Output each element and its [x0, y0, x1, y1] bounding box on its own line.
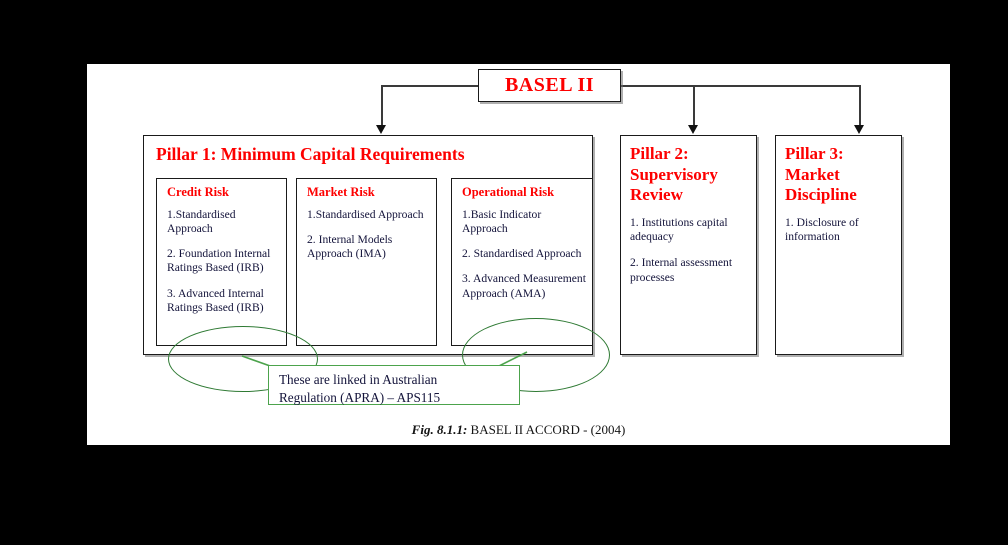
connector-right-horizontal [621, 85, 860, 87]
list-item: 3. Advanced Measurement Approach (AMA) [462, 272, 586, 300]
credit-risk-items: 1.Standardised Approach 2. Foundation In… [157, 200, 286, 315]
figure-caption: Fig. 8.1.1: BASEL II ACCORD - (2004) [87, 422, 950, 438]
caption-figure-number: Fig. 8.1.1: [412, 422, 468, 437]
credit-risk-title: Credit Risk [157, 179, 286, 200]
pillar-3-items: 1. Disclosure of information [776, 206, 901, 244]
market-risk-title: Market Risk [297, 179, 436, 200]
diagram-panel: BASEL II Pillar 1: Minimum Capital Requi… [87, 64, 950, 445]
operational-risk-title: Operational Risk [452, 179, 592, 200]
list-item: 2. Internal Models Approach (IMA) [307, 233, 430, 261]
list-item: 2. Standardised Approach [462, 247, 586, 261]
pillar-2-items: 1. Institutions capital adequacy 2. Inte… [621, 206, 756, 285]
list-item: 3. Advanced Internal Ratings Based (IRB) [167, 287, 280, 315]
credit-risk-box[interactable]: Credit Risk 1.Standardised Approach 2. F… [156, 178, 287, 346]
list-item: 1.Standardised Approach [167, 208, 280, 236]
callout-text: These are linked in Australian Regulatio… [269, 366, 519, 407]
market-risk-box[interactable]: Market Risk 1.Standardised Approach 2. I… [296, 178, 437, 346]
list-item: 2. Internal assessment processes [630, 256, 750, 284]
callout-box-apra[interactable]: These are linked in Australian Regulatio… [268, 365, 520, 405]
connector-left-horizontal [381, 85, 479, 87]
list-item: 2. Foundation Internal Ratings Based (IR… [167, 247, 280, 275]
caption-text: BASEL II ACCORD - (2004) [467, 422, 625, 437]
pillar-1-box[interactable]: Pillar 1: Minimum Capital Requirements C… [143, 135, 593, 355]
pillar-1-title: Pillar 1: Minimum Capital Requirements [144, 136, 592, 165]
screenshot-root: BASEL II Pillar 1: Minimum Capital Requi… [0, 0, 1008, 545]
pillar-3-title: Pillar 3: Market Discipline [776, 136, 901, 206]
pillar-2-box[interactable]: Pillar 2: Supervisory Review 1. Institut… [620, 135, 757, 355]
list-item: 1.Basic Indicator Approach [462, 208, 586, 236]
basel-ii-label: BASEL II [505, 74, 594, 97]
basel-ii-root-box[interactable]: BASEL II [478, 69, 621, 102]
arrow-to-pillar-2 [688, 125, 698, 134]
pillar-3-box[interactable]: Pillar 3: Market Discipline 1. Disclosur… [775, 135, 902, 355]
arrow-to-pillar-3 [854, 125, 864, 134]
operational-risk-items: 1.Basic Indicator Approach 2. Standardis… [452, 200, 592, 301]
list-item: 1. Disclosure of information [785, 216, 895, 244]
pillar-2-title: Pillar 2: Supervisory Review [621, 136, 756, 206]
list-item: 1.Standardised Approach [307, 208, 430, 222]
callout-line-1: These are linked in Australian [279, 372, 437, 387]
list-item: 1. Institutions capital adequacy [630, 216, 750, 244]
arrow-to-pillar-1 [376, 125, 386, 134]
callout-line-2: Regulation (APRA) – APS115 [279, 390, 440, 405]
connector-right-vertical [859, 85, 861, 127]
market-risk-items: 1.Standardised Approach 2. Internal Mode… [297, 200, 436, 261]
connector-left-vertical [381, 85, 383, 127]
connector-middle-vertical [693, 85, 695, 127]
